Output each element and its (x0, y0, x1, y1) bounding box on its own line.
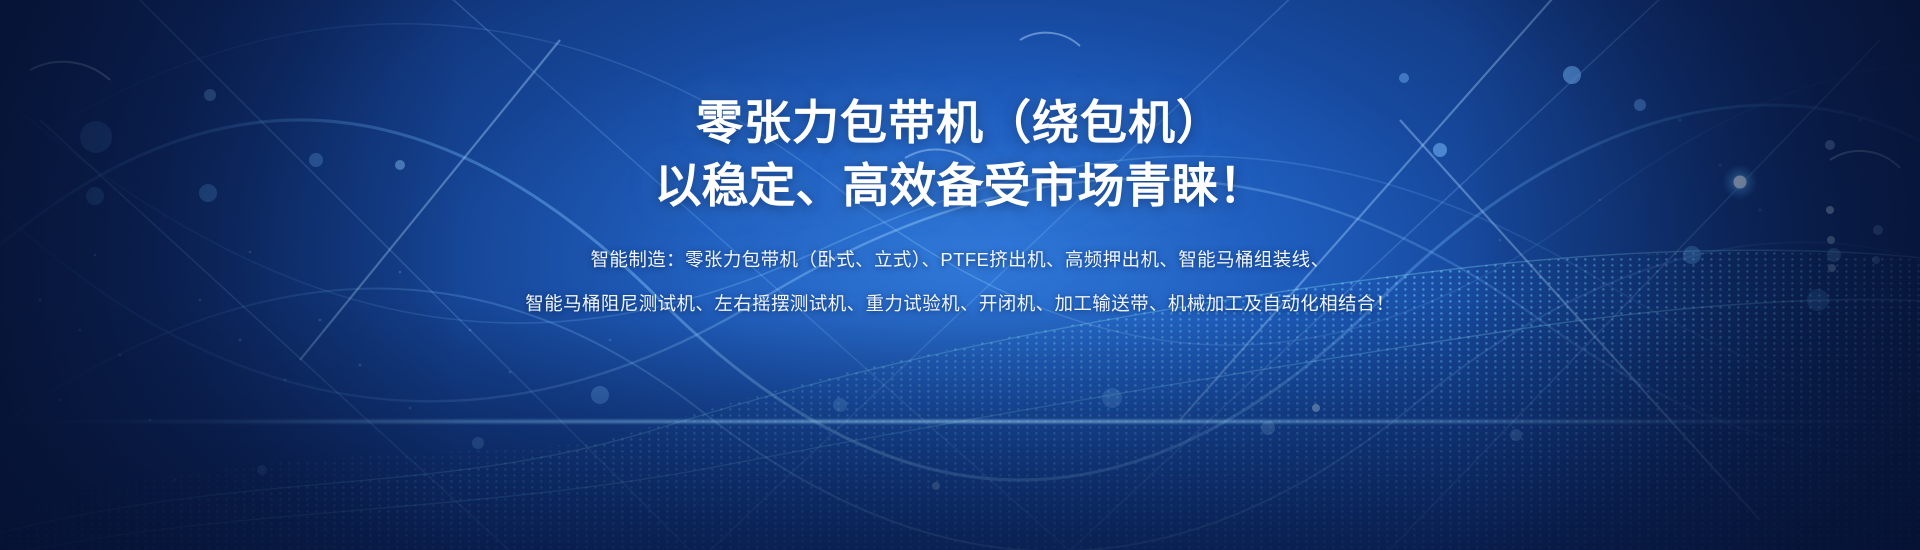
headline-line-1: 零张力包带机（绕包机） (696, 92, 1224, 153)
subtitle-line-2: 智能马桶阻尼测试机、左右摇摆测试机、重力试验机、开闭机、加工输送带、机械加工及自… (525, 290, 1394, 319)
headline-line-2: 以稳定、高效备受市场青睐！ (655, 155, 1266, 216)
banner-content: 零张力包带机（绕包机） 以稳定、高效备受市场青睐！ 智能制造：零张力包带机（卧式… (0, 0, 1920, 550)
subtitle-line-1: 智能制造：零张力包带机（卧式、立式）、PTFE挤出机、高频押出机、智能马桶组装线… (591, 246, 1330, 275)
hero-banner: 零张力包带机（绕包机） 以稳定、高效备受市场青睐！ 智能制造：零张力包带机（卧式… (0, 0, 1920, 550)
